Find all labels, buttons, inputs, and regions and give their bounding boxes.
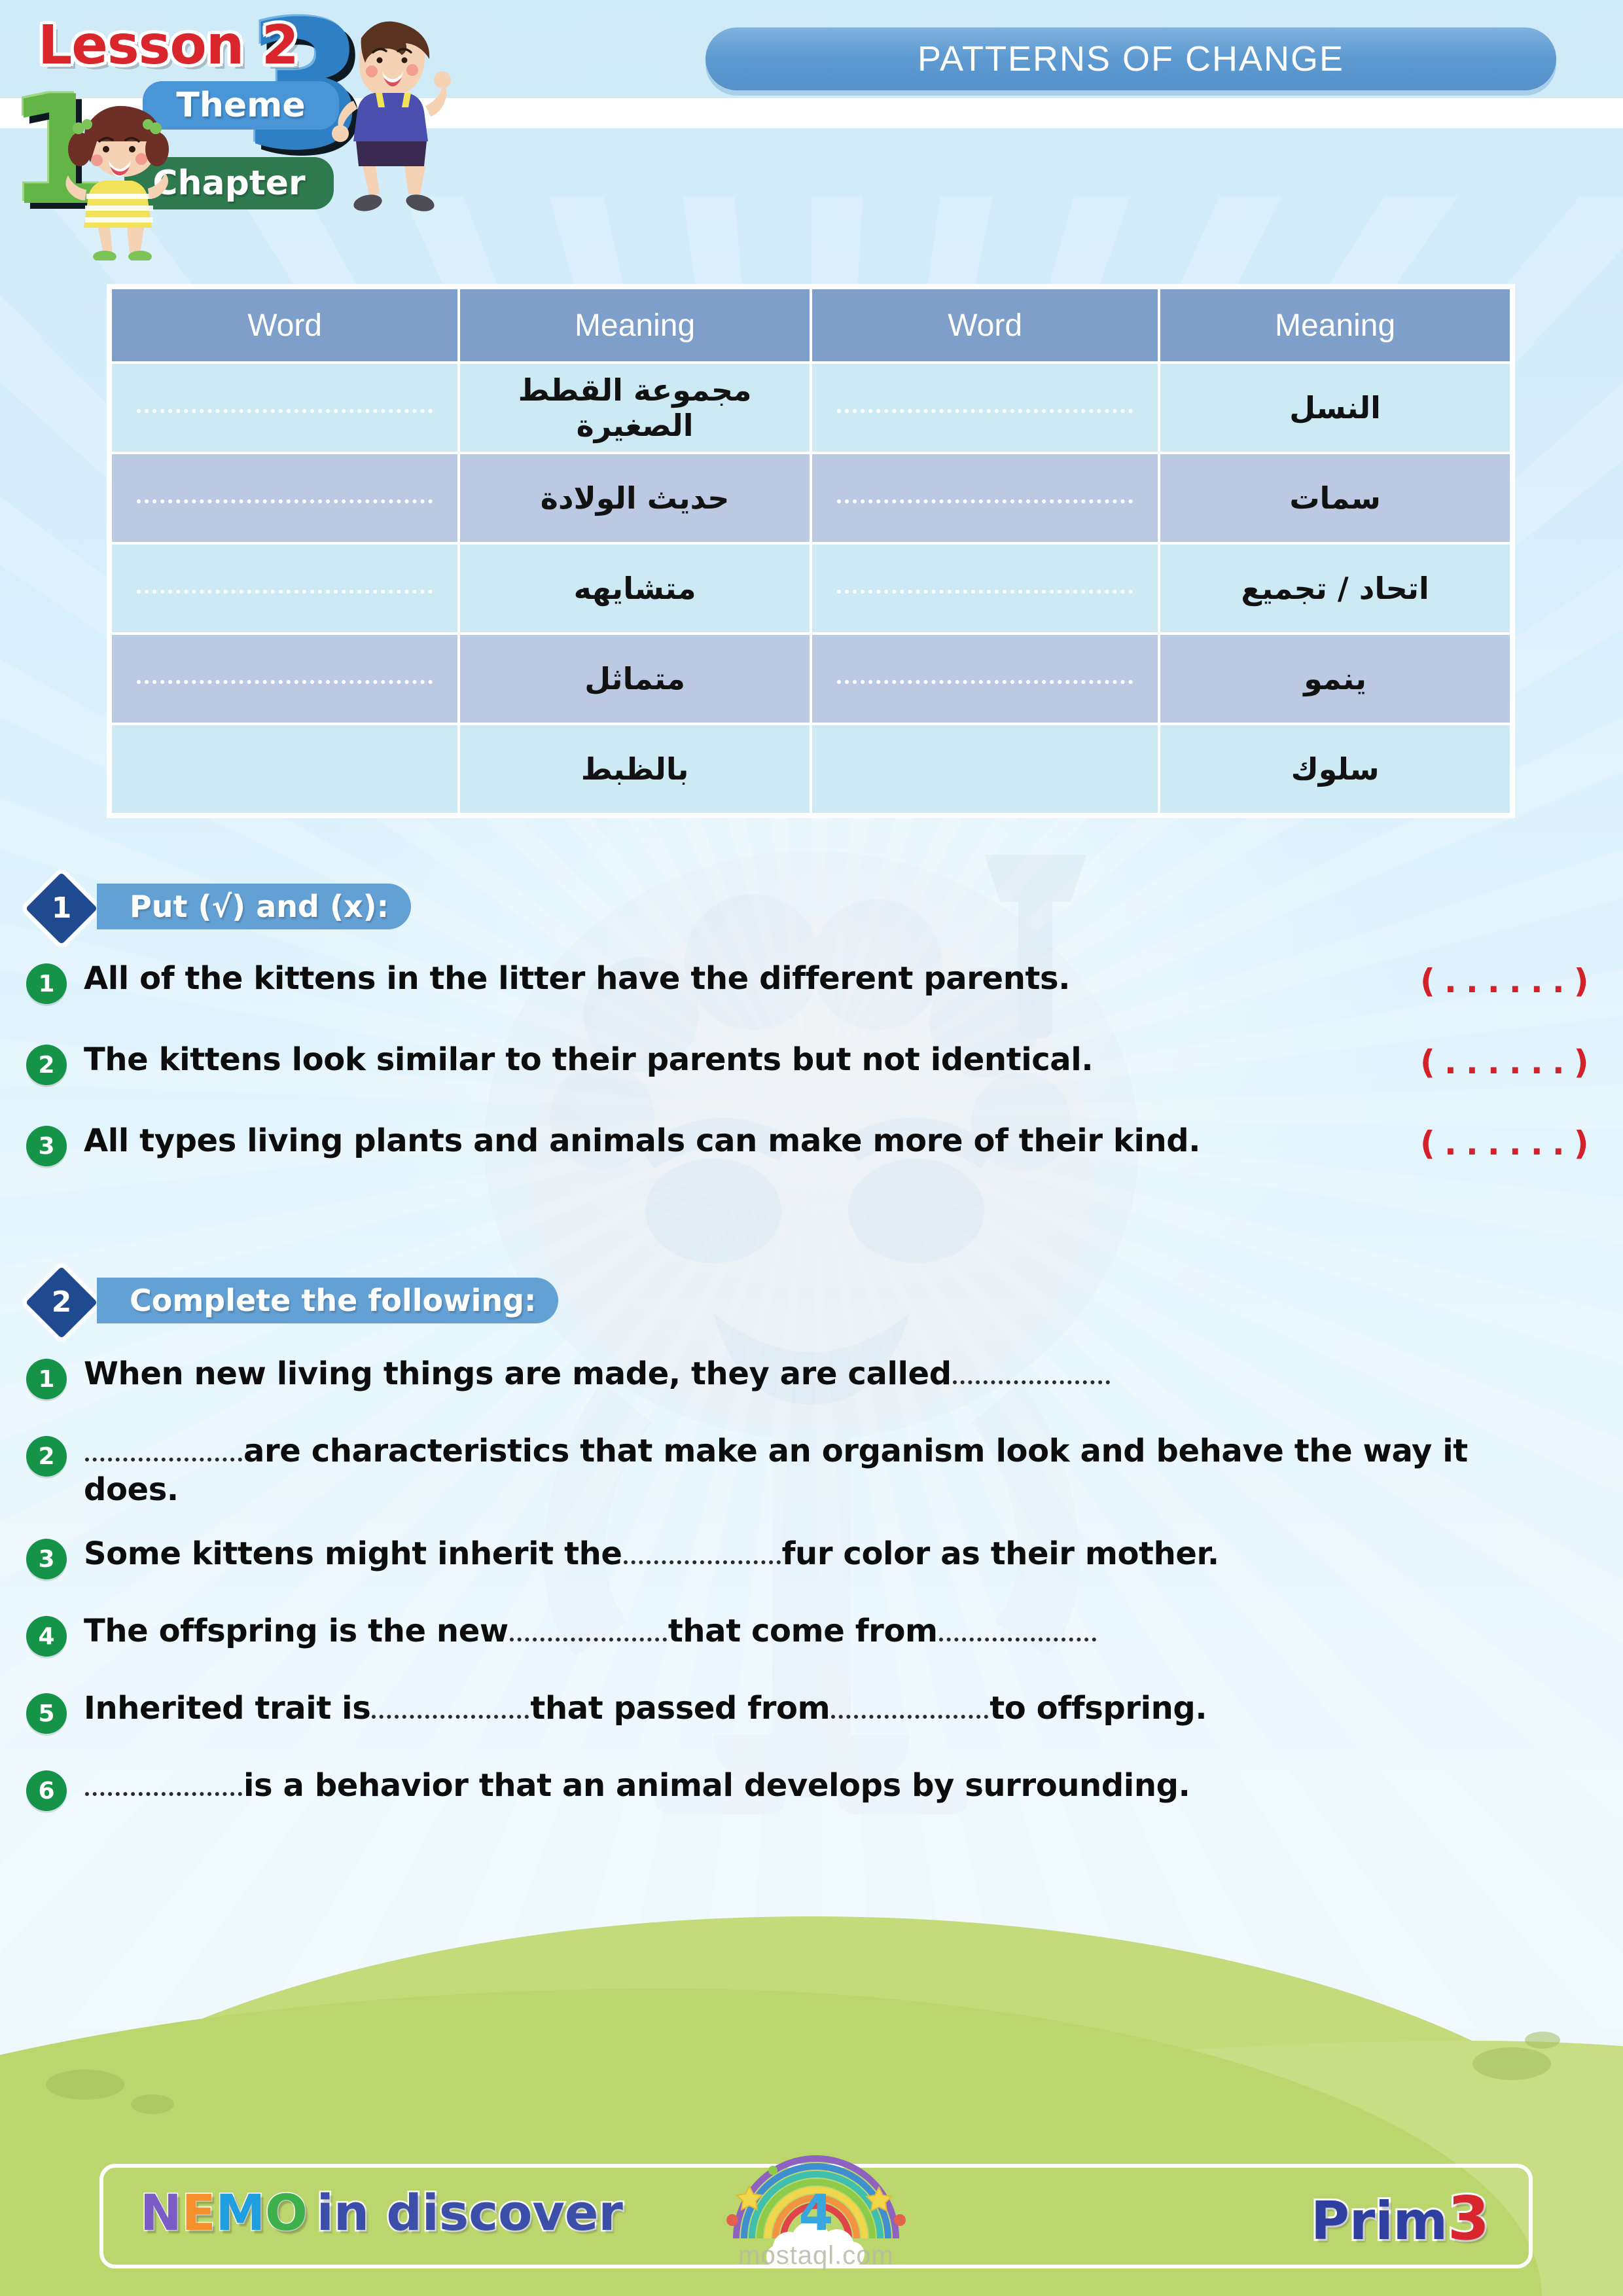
answer-blank[interactable] xyxy=(372,1693,529,1719)
answer-parentheses[interactable]: ( . . . . . . ) xyxy=(1420,1043,1551,1081)
answer-blank[interactable] xyxy=(85,1435,242,1462)
item-number-badge: 2 xyxy=(26,1436,67,1477)
list-item: 4 The offspring is the newthat come from xyxy=(26,1612,1551,1668)
table-row: حديث الولادة سمات xyxy=(112,454,1510,542)
word-cell[interactable] xyxy=(112,725,457,813)
item-number-badge: 5 xyxy=(26,1693,67,1734)
word-cell[interactable] xyxy=(812,725,1158,813)
item-number-badge: 3 xyxy=(26,1539,67,1579)
table-row: متشايهه اتحاد / تجميع xyxy=(112,545,1510,632)
blank-line[interactable] xyxy=(837,400,1133,413)
item-number-badge: 2 xyxy=(26,1045,67,1085)
site-watermark: mostaql.com xyxy=(718,2241,914,2270)
blank-line[interactable] xyxy=(137,490,433,503)
page-footer: NEMOin discover xyxy=(99,2164,1533,2269)
exercise-1-title: Put (√) and (x): xyxy=(97,884,411,929)
grade-label: Prim3 xyxy=(1311,2183,1489,2253)
item-text: The kittens look similar to their parent… xyxy=(84,1041,1420,1079)
brand-letter-m: M xyxy=(216,2183,266,2242)
item-text: Some kittens might inherit thefur color … xyxy=(84,1535,1551,1573)
meaning-cell: حديث الولادة xyxy=(460,454,810,542)
answer-blank[interactable] xyxy=(624,1538,781,1565)
word-cell[interactable] xyxy=(112,635,457,723)
word-cell[interactable] xyxy=(812,635,1158,723)
item-text-part: Inherited trait is xyxy=(84,1690,370,1727)
exercise-1: 1 Put (√) and (x): 1 All of the kittens … xyxy=(26,876,1551,1178)
boy-character-icon xyxy=(327,9,452,225)
exercise-2-number-badge: 2 xyxy=(21,1262,102,1343)
blank-line[interactable] xyxy=(837,581,1133,594)
lesson-title: Lesson 2 xyxy=(38,14,298,77)
column-header-meaning-left: Meaning xyxy=(460,289,810,361)
meaning-cell: اتحاد / تجميع xyxy=(1160,545,1510,632)
grass-dot xyxy=(46,2070,124,2100)
item-text-part: are characteristics that make an organis… xyxy=(84,1433,1468,1508)
item-text-part: to offspring. xyxy=(990,1690,1207,1727)
item-text-part: that passed from xyxy=(530,1690,830,1727)
blank-line[interactable] xyxy=(137,581,433,594)
item-text: is a behavior that an animal develops by… xyxy=(84,1767,1551,1805)
list-item: 3 All types living plants and animals ca… xyxy=(26,1122,1551,1178)
meaning-cell: النسل xyxy=(1160,364,1510,452)
grade-number: 3 xyxy=(1448,2183,1489,2253)
answer-blank[interactable] xyxy=(939,1615,1096,1642)
chapter-title-banner: PATTERNS OF CHANGE xyxy=(705,27,1556,90)
meaning-cell: سلوك xyxy=(1160,725,1510,813)
item-text-part: is a behavior that an animal develops by… xyxy=(243,1767,1190,1804)
blank-line[interactable] xyxy=(837,490,1133,503)
blank-line[interactable] xyxy=(137,671,433,684)
brand-letter-o: O xyxy=(265,2183,308,2242)
item-number-badge: 1 xyxy=(26,963,67,1004)
item-text: All types living plants and animals can … xyxy=(84,1122,1420,1160)
list-item: 1 When new living things are made, they … xyxy=(26,1355,1551,1411)
word-cell[interactable] xyxy=(112,364,457,452)
item-text-part: The offspring is the new xyxy=(84,1613,508,1649)
word-cell[interactable] xyxy=(812,364,1158,452)
list-item: 1 All of the kittens in the litter have … xyxy=(26,960,1551,1016)
list-item: 6 is a behavior that an animal develops … xyxy=(26,1767,1551,1823)
meaning-cell: متشايهه xyxy=(460,545,810,632)
word-cell[interactable] xyxy=(812,545,1158,632)
blank-line[interactable] xyxy=(137,400,433,413)
answer-blank[interactable] xyxy=(831,1693,988,1719)
list-item: 2 are characteristics that make an organ… xyxy=(26,1432,1551,1509)
grass-dot xyxy=(131,2094,174,2114)
list-item: 3 Some kittens might inherit thefur colo… xyxy=(26,1535,1551,1591)
answer-blank[interactable] xyxy=(510,1615,667,1642)
item-text: All of the kittens in the litter have th… xyxy=(84,960,1420,998)
brand-logo: NEMOin discover xyxy=(140,2183,623,2242)
exercise-2-number: 2 xyxy=(36,1277,87,1328)
page-number: 4 xyxy=(790,2183,842,2242)
word-cell[interactable] xyxy=(112,545,457,632)
item-text-part: fur color as their mother. xyxy=(782,1535,1219,1572)
item-number-badge: 3 xyxy=(26,1126,67,1166)
exercise-2: 2 Complete the following: 1 When new liv… xyxy=(26,1270,1551,1823)
column-header-word-left: Word xyxy=(112,289,457,361)
exercise-1-header: 1 Put (√) and (x): xyxy=(26,876,1551,948)
item-number-badge: 1 xyxy=(26,1359,67,1399)
item-text: are characteristics that make an organis… xyxy=(84,1432,1551,1509)
meaning-cell: ينمو xyxy=(1160,635,1510,723)
item-text: Inherited trait isthat passed fromto off… xyxy=(84,1689,1551,1728)
item-text-part: Some kittens might inherit the xyxy=(84,1535,622,1572)
table-row: بالظبط سلوك xyxy=(112,725,1510,813)
banner-title-text: PATTERNS OF CHANGE xyxy=(918,39,1344,79)
meaning-cell: مجموعة القطط الصغيرة xyxy=(460,364,810,452)
answer-parentheses[interactable]: ( . . . . . . ) xyxy=(1420,962,1551,1000)
brand-letter-e: E xyxy=(182,2183,216,2242)
table-row: مجموعة القطط الصغيرة النسل xyxy=(112,364,1510,452)
item-text: The offspring is the newthat come from xyxy=(84,1612,1551,1651)
column-header-meaning-right: Meaning xyxy=(1160,289,1510,361)
exercise-2-header: 2 Complete the following: xyxy=(26,1270,1551,1342)
grass-dot xyxy=(1525,2032,1560,2049)
word-cell[interactable] xyxy=(112,454,457,542)
item-number-badge: 4 xyxy=(26,1616,67,1657)
exercise-1-number-badge: 1 xyxy=(21,868,102,949)
answer-blank[interactable] xyxy=(85,1770,242,1797)
column-header-word-right: Word xyxy=(812,289,1158,361)
exercise-1-number: 1 xyxy=(36,883,87,934)
brand-tagline: in discover xyxy=(317,2183,623,2242)
exercise-2-title: Complete the following: xyxy=(97,1278,558,1323)
meaning-cell: بالظبط xyxy=(460,725,810,813)
item-text-part: When new living things are made, they ar… xyxy=(84,1355,952,1392)
vocabulary-table: Word Meaning Word Meaning مجموعة القطط ا… xyxy=(107,284,1515,818)
meaning-cell: سمات xyxy=(1160,454,1510,542)
item-number-badge: 6 xyxy=(26,1770,67,1811)
table-header-row: Word Meaning Word Meaning xyxy=(112,289,1510,361)
page-header: 3 1 Lesson 2 Theme Chapter xyxy=(0,0,1623,236)
grade-text: Prim xyxy=(1311,2191,1448,2251)
answer-parentheses[interactable]: ( . . . . . . ) xyxy=(1420,1124,1551,1162)
item-text: When new living things are made, they ar… xyxy=(84,1355,1551,1393)
worksheet-page: 3 1 Lesson 2 Theme Chapter xyxy=(0,0,1623,2296)
meaning-cell: متماثل xyxy=(460,635,810,723)
grass-dot xyxy=(1472,2047,1551,2080)
blank-line[interactable] xyxy=(837,671,1133,684)
answer-blank[interactable] xyxy=(953,1357,1110,1384)
girl-character-icon xyxy=(59,97,177,260)
item-text-part: that come from xyxy=(668,1613,938,1649)
list-item: 2 The kittens look similar to their pare… xyxy=(26,1041,1551,1097)
list-item: 5 Inherited trait isthat passed fromto o… xyxy=(26,1689,1551,1746)
brand-letter-n: N xyxy=(140,2183,182,2242)
table-row: متماثل ينمو xyxy=(112,635,1510,723)
word-cell[interactable] xyxy=(812,454,1158,542)
